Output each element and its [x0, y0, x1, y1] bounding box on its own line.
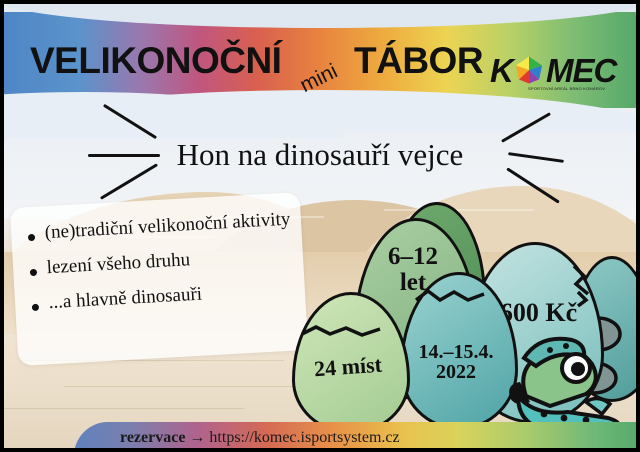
band-wave-top	[4, 4, 636, 28]
logo-tagline: SPORTOVNÍ AREÁL BRNO KOMÁROV	[528, 86, 605, 91]
list-item-label: lezení všeho druhu	[46, 250, 190, 278]
reservation-bar[interactable]: rezervace → https://komec.isportsystem.c…	[74, 422, 636, 448]
reservation-text: rezervace → https://komec.isportsystem.c…	[120, 429, 400, 447]
egg-crack-seats	[300, 322, 396, 346]
sand-streak	[384, 209, 534, 211]
arrow-icon: →	[189, 429, 205, 446]
bullets-list: (ne)tradiční velikonoční aktivity lezení…	[23, 208, 328, 330]
subtitle: Hon na dinosauří vejce	[4, 137, 636, 173]
bullet-dot	[28, 234, 35, 241]
dinosaur-hatchling-icon	[490, 324, 636, 436]
egg-crack-date	[414, 286, 500, 312]
page-title: VELIKONOČNÍ	[30, 40, 281, 82]
list-item: lezení všeho druhu	[25, 243, 326, 280]
diamond-icon	[515, 56, 543, 84]
reservation-label: rezervace	[120, 429, 185, 446]
reservation-url[interactable]: https://komec.isportsystem.cz	[209, 429, 399, 446]
egg-age-line1: 6–12	[354, 244, 472, 270]
poster: VELIKONOČNÍ TÁBOR mini K MEC SPORTOVNÍ A…	[0, 0, 640, 452]
list-item: ...a hlavně dinosauři	[27, 278, 328, 315]
logo-letters-mec: MEC	[546, 52, 616, 90]
list-item-label: ...a hlavně dinosauři	[48, 285, 202, 314]
background-scene: VELIKONOČNÍ TÁBOR mini K MEC SPORTOVNÍ A…	[4, 4, 636, 448]
komec-logo: K MEC SPORTOVNÍ AREÁL BRNO KOMÁROV	[490, 52, 636, 100]
page-title-second: TÁBOR	[354, 40, 483, 82]
logo-letter-k: K	[490, 52, 513, 90]
bullet-dot	[32, 304, 39, 311]
bullet-dot	[30, 269, 37, 276]
